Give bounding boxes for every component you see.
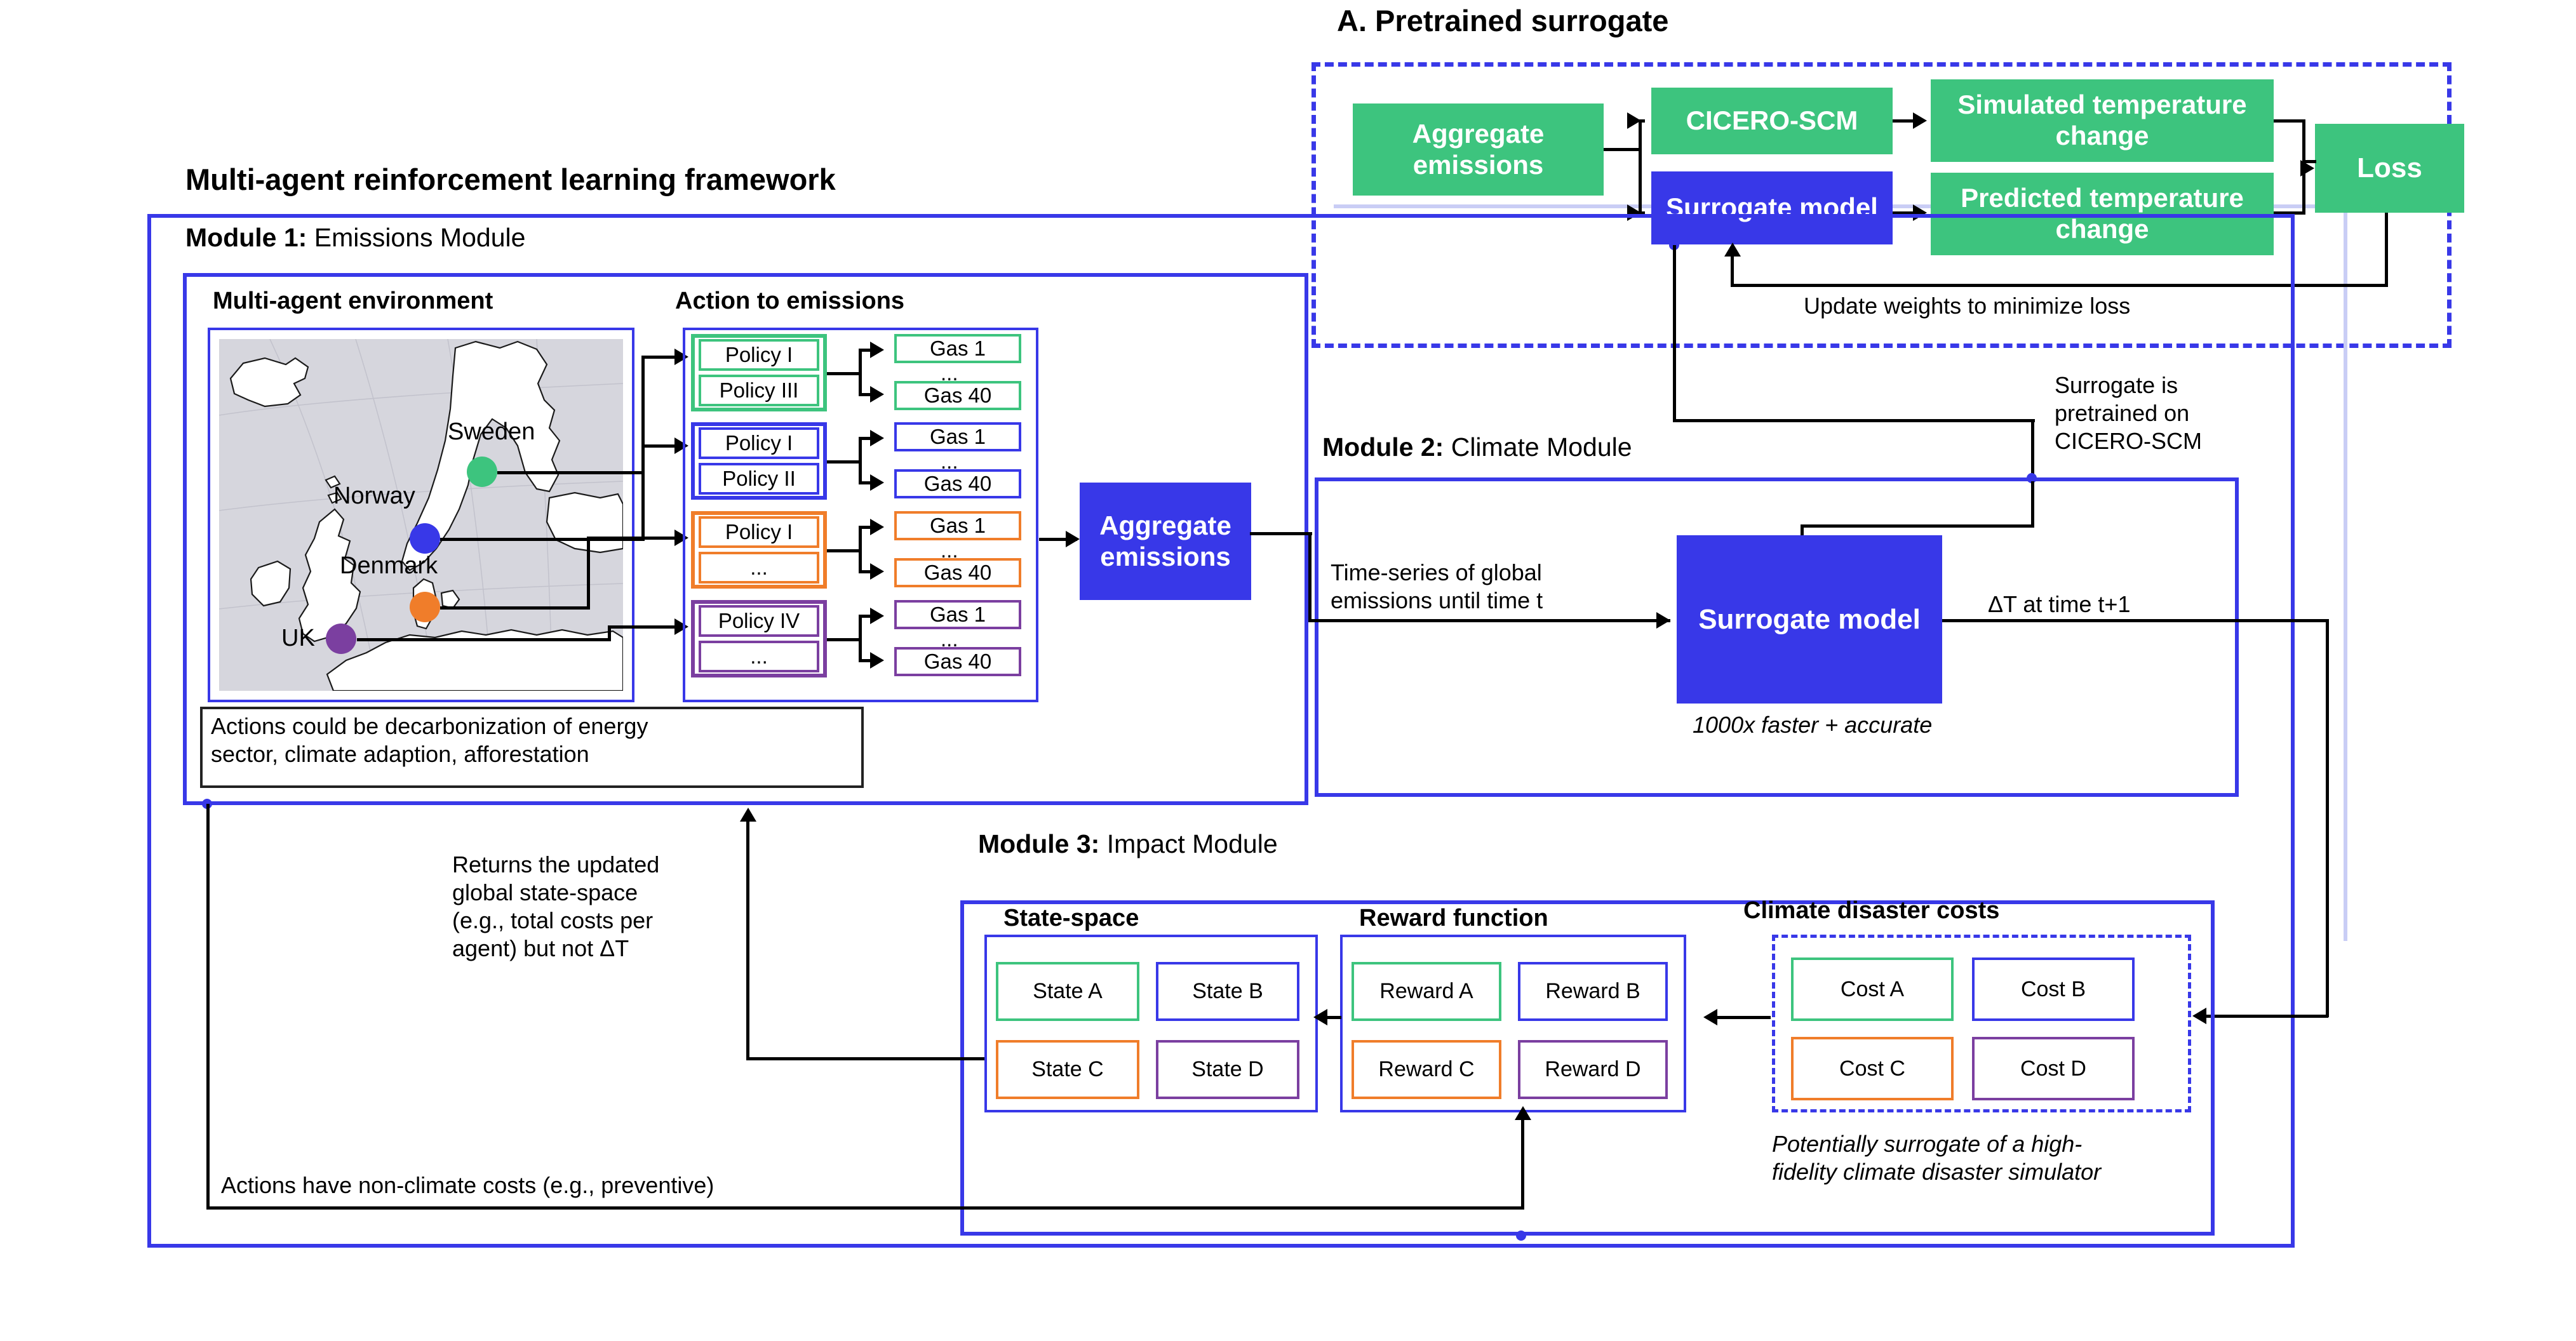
arrow-into-module2-surrogate	[1656, 612, 1670, 629]
policy-box-orange-1[interactable]: Policy I	[699, 516, 819, 548]
arrow-green-gas1	[870, 342, 884, 358]
panelA-cicero-scm-block: CICERO-SCM	[1651, 88, 1893, 154]
connector-simulated-to-loss-h	[2274, 119, 2305, 123]
arrow-into-reward-function	[1515, 1106, 1531, 1120]
module3-reward-function-heading: Reward function	[1359, 904, 1548, 933]
module2-surrogate-model-block: Surrogate model	[1677, 535, 1942, 704]
connector-orange-policy-gas-v	[859, 526, 862, 573]
connector-state-back-h	[746, 1057, 984, 1060]
module1-actions-note: Actions could be decarbonization of ener…	[211, 712, 859, 768]
connector-denmark-h2	[587, 537, 681, 540]
state-box-b[interactable]: State B	[1156, 962, 1299, 1021]
module3-label: Module 3: Impact Module	[978, 829, 1278, 859]
panelA-aggregate-emissions-block: Aggregate emissions	[1353, 103, 1604, 196]
connector-module2-out-v	[2326, 619, 2329, 1017]
module3-label-rest: Impact Module	[1099, 829, 1277, 858]
module1-label: Module 1: Emissions Module	[185, 222, 525, 253]
connector-module2-input-h	[1308, 619, 1670, 622]
panelA-simulated-temperature-block: Simulated temperature change	[1931, 79, 2274, 162]
module2-label-rest: Climate Module	[1444, 432, 1632, 462]
arrow-cicero-simulated	[1913, 112, 1927, 129]
connector-purple-policy-gas-v	[859, 615, 862, 662]
gas-box-blue-40[interactable]: Gas 40	[894, 469, 1021, 498]
arrow-reward-to-state	[1313, 1009, 1327, 1025]
policy-box-blue-2[interactable]: Policy II	[699, 463, 819, 495]
state-box-c[interactable]: State C	[996, 1040, 1139, 1099]
panel-a-title: A. Pretrained surrogate	[1337, 3, 1668, 38]
connector-agg-out-v	[1308, 532, 1311, 621]
arrow-orange-gas40	[870, 563, 884, 580]
gas-box-purple-40[interactable]: Gas 40	[894, 647, 1021, 676]
module1-action-heading: Action to emissions	[675, 287, 904, 316]
module2-label-bold: Module 2:	[1322, 432, 1444, 462]
reward-box-a[interactable]: Reward A	[1352, 962, 1501, 1021]
connector-sweden-h1	[497, 471, 645, 474]
connector-agg-to-split	[1604, 148, 1642, 151]
state-box-d[interactable]: State D	[1156, 1040, 1299, 1099]
connector-denmark-v	[587, 537, 590, 608]
panelA-loss-block: Loss	[2315, 124, 2464, 213]
framework-bottom-caption: Actions have non-climate costs (e.g., pr…	[221, 1171, 714, 1199]
connector-norway-v	[641, 444, 645, 540]
connector-purple-policy-gas-h	[827, 638, 862, 641]
arrow-purple-gas1	[870, 608, 884, 624]
connector-blue-policy-gas-h	[827, 460, 862, 464]
reward-box-c[interactable]: Reward C	[1352, 1040, 1501, 1099]
connector-bottom-loop-h	[206, 1206, 1524, 1210]
map-label-norway: Norway	[333, 483, 415, 510]
cost-box-b[interactable]: Cost B	[1972, 957, 2135, 1021]
connector-uk-h2	[608, 625, 681, 629]
map-label-uk: UK	[281, 625, 315, 652]
connector-orange-policy-gas-h	[827, 549, 862, 552]
module3-disaster-costs-heading: Climate disaster costs	[1743, 897, 1999, 925]
connector-split-vertical	[1639, 119, 1642, 215]
map-label-denmark: Denmark	[340, 552, 438, 580]
framework-title: Multi-agent reinforcement learning frame…	[185, 162, 836, 197]
gas-box-orange-1[interactable]: Gas 1	[894, 511, 1021, 540]
arrow-to-cicero	[1627, 112, 1641, 129]
map-dot-sweden	[467, 457, 497, 487]
connector-reward-to-state	[1327, 1016, 1341, 1019]
policy-box-green-2[interactable]: Policy III	[699, 375, 819, 406]
policy-box-blue-1[interactable]: Policy I	[699, 427, 819, 459]
connector-loss-down	[2385, 213, 2388, 286]
map-dot-denmark	[410, 592, 440, 622]
cost-box-d[interactable]: Cost D	[1972, 1037, 2135, 1100]
connector-to-disaster-costs-h	[2204, 1015, 2328, 1018]
connector-costs-to-reward	[1715, 1016, 1771, 1019]
policy-box-green-1[interactable]: Policy I	[699, 339, 819, 371]
module2-output-caption: ΔT at time t+1	[1988, 590, 2130, 618]
state-box-a[interactable]: State A	[996, 962, 1139, 1021]
arrow-state-back-to-module1	[740, 808, 756, 822]
framework-returns-caption: Returns the updated global state-space (…	[452, 851, 725, 963]
module1-label-bold: Module 1:	[185, 223, 307, 252]
module1-env-heading: Multi-agent environment	[213, 287, 493, 316]
gas-box-orange-40[interactable]: Gas 40	[894, 558, 1021, 587]
cost-box-c[interactable]: Cost C	[1791, 1037, 1954, 1100]
connector-module2-out-h	[1942, 619, 2328, 622]
junction-dot-module3-bottom	[1516, 1231, 1526, 1241]
module3-disaster-costs-note: Potentially surrogate of a high- fidelit…	[1772, 1130, 2223, 1186]
module3-label-bold: Module 3:	[978, 829, 1099, 858]
arrow-orange-gas1	[870, 519, 884, 535]
connector-denmark-h1	[440, 606, 590, 610]
module2-input-caption: Time-series of global emissions until ti…	[1331, 559, 1623, 615]
arrow-green-gas40	[870, 386, 884, 403]
connector-bottom-loop-v	[206, 804, 210, 1209]
module2-label: Module 2: Climate Module	[1322, 432, 1632, 462]
module2-surrogate-note: 1000x faster + accurate	[1693, 711, 1932, 739]
gas-box-purple-1[interactable]: Gas 1	[894, 600, 1021, 629]
map-dot-norway	[410, 523, 440, 554]
arrow-blue-gas40	[870, 474, 884, 491]
arrow-costs-to-reward	[1703, 1009, 1717, 1025]
arrow-to-aggregate-emissions	[1066, 531, 1080, 547]
connector-bottom-loop-up	[1521, 1117, 1524, 1210]
connector-green-policy-gas-v	[859, 349, 862, 396]
arrow-blue-gas1	[870, 430, 884, 446]
map-dot-uk	[326, 624, 356, 654]
policy-box-purple-1[interactable]: Policy IV	[699, 605, 819, 637]
cost-box-a[interactable]: Cost A	[1791, 957, 1954, 1021]
policy-box-orange-2[interactable]: ...	[699, 552, 819, 584]
reward-box-d[interactable]: Reward D	[1518, 1040, 1668, 1099]
arrow-purple-gas40	[870, 652, 884, 669]
map-label-sweden: Sweden	[448, 418, 535, 446]
connector-agg-out-h	[1250, 532, 1312, 535]
framework-frame-underlay-v	[2344, 204, 2347, 941]
connector-green-policy-gas-h	[827, 372, 862, 375]
policy-box-purple-2[interactable]: ...	[699, 641, 819, 672]
module3-state-space-heading: State-space	[1003, 904, 1139, 933]
connector-blue-policy-gas-v	[859, 437, 862, 484]
gas-box-green-1[interactable]: Gas 1	[894, 334, 1021, 363]
gas-box-green-40[interactable]: Gas 40	[894, 381, 1021, 410]
connector-uk-h1	[357, 638, 611, 641]
module1-aggregate-emissions-block: Aggregate emissions	[1080, 483, 1251, 600]
connector-state-back-v	[746, 819, 749, 1060]
reward-box-b[interactable]: Reward B	[1518, 962, 1668, 1021]
module1-label-rest: Emissions Module	[307, 223, 525, 252]
connector-merge-to-loss	[2302, 160, 2316, 163]
gas-box-blue-1[interactable]: Gas 1	[894, 422, 1021, 451]
